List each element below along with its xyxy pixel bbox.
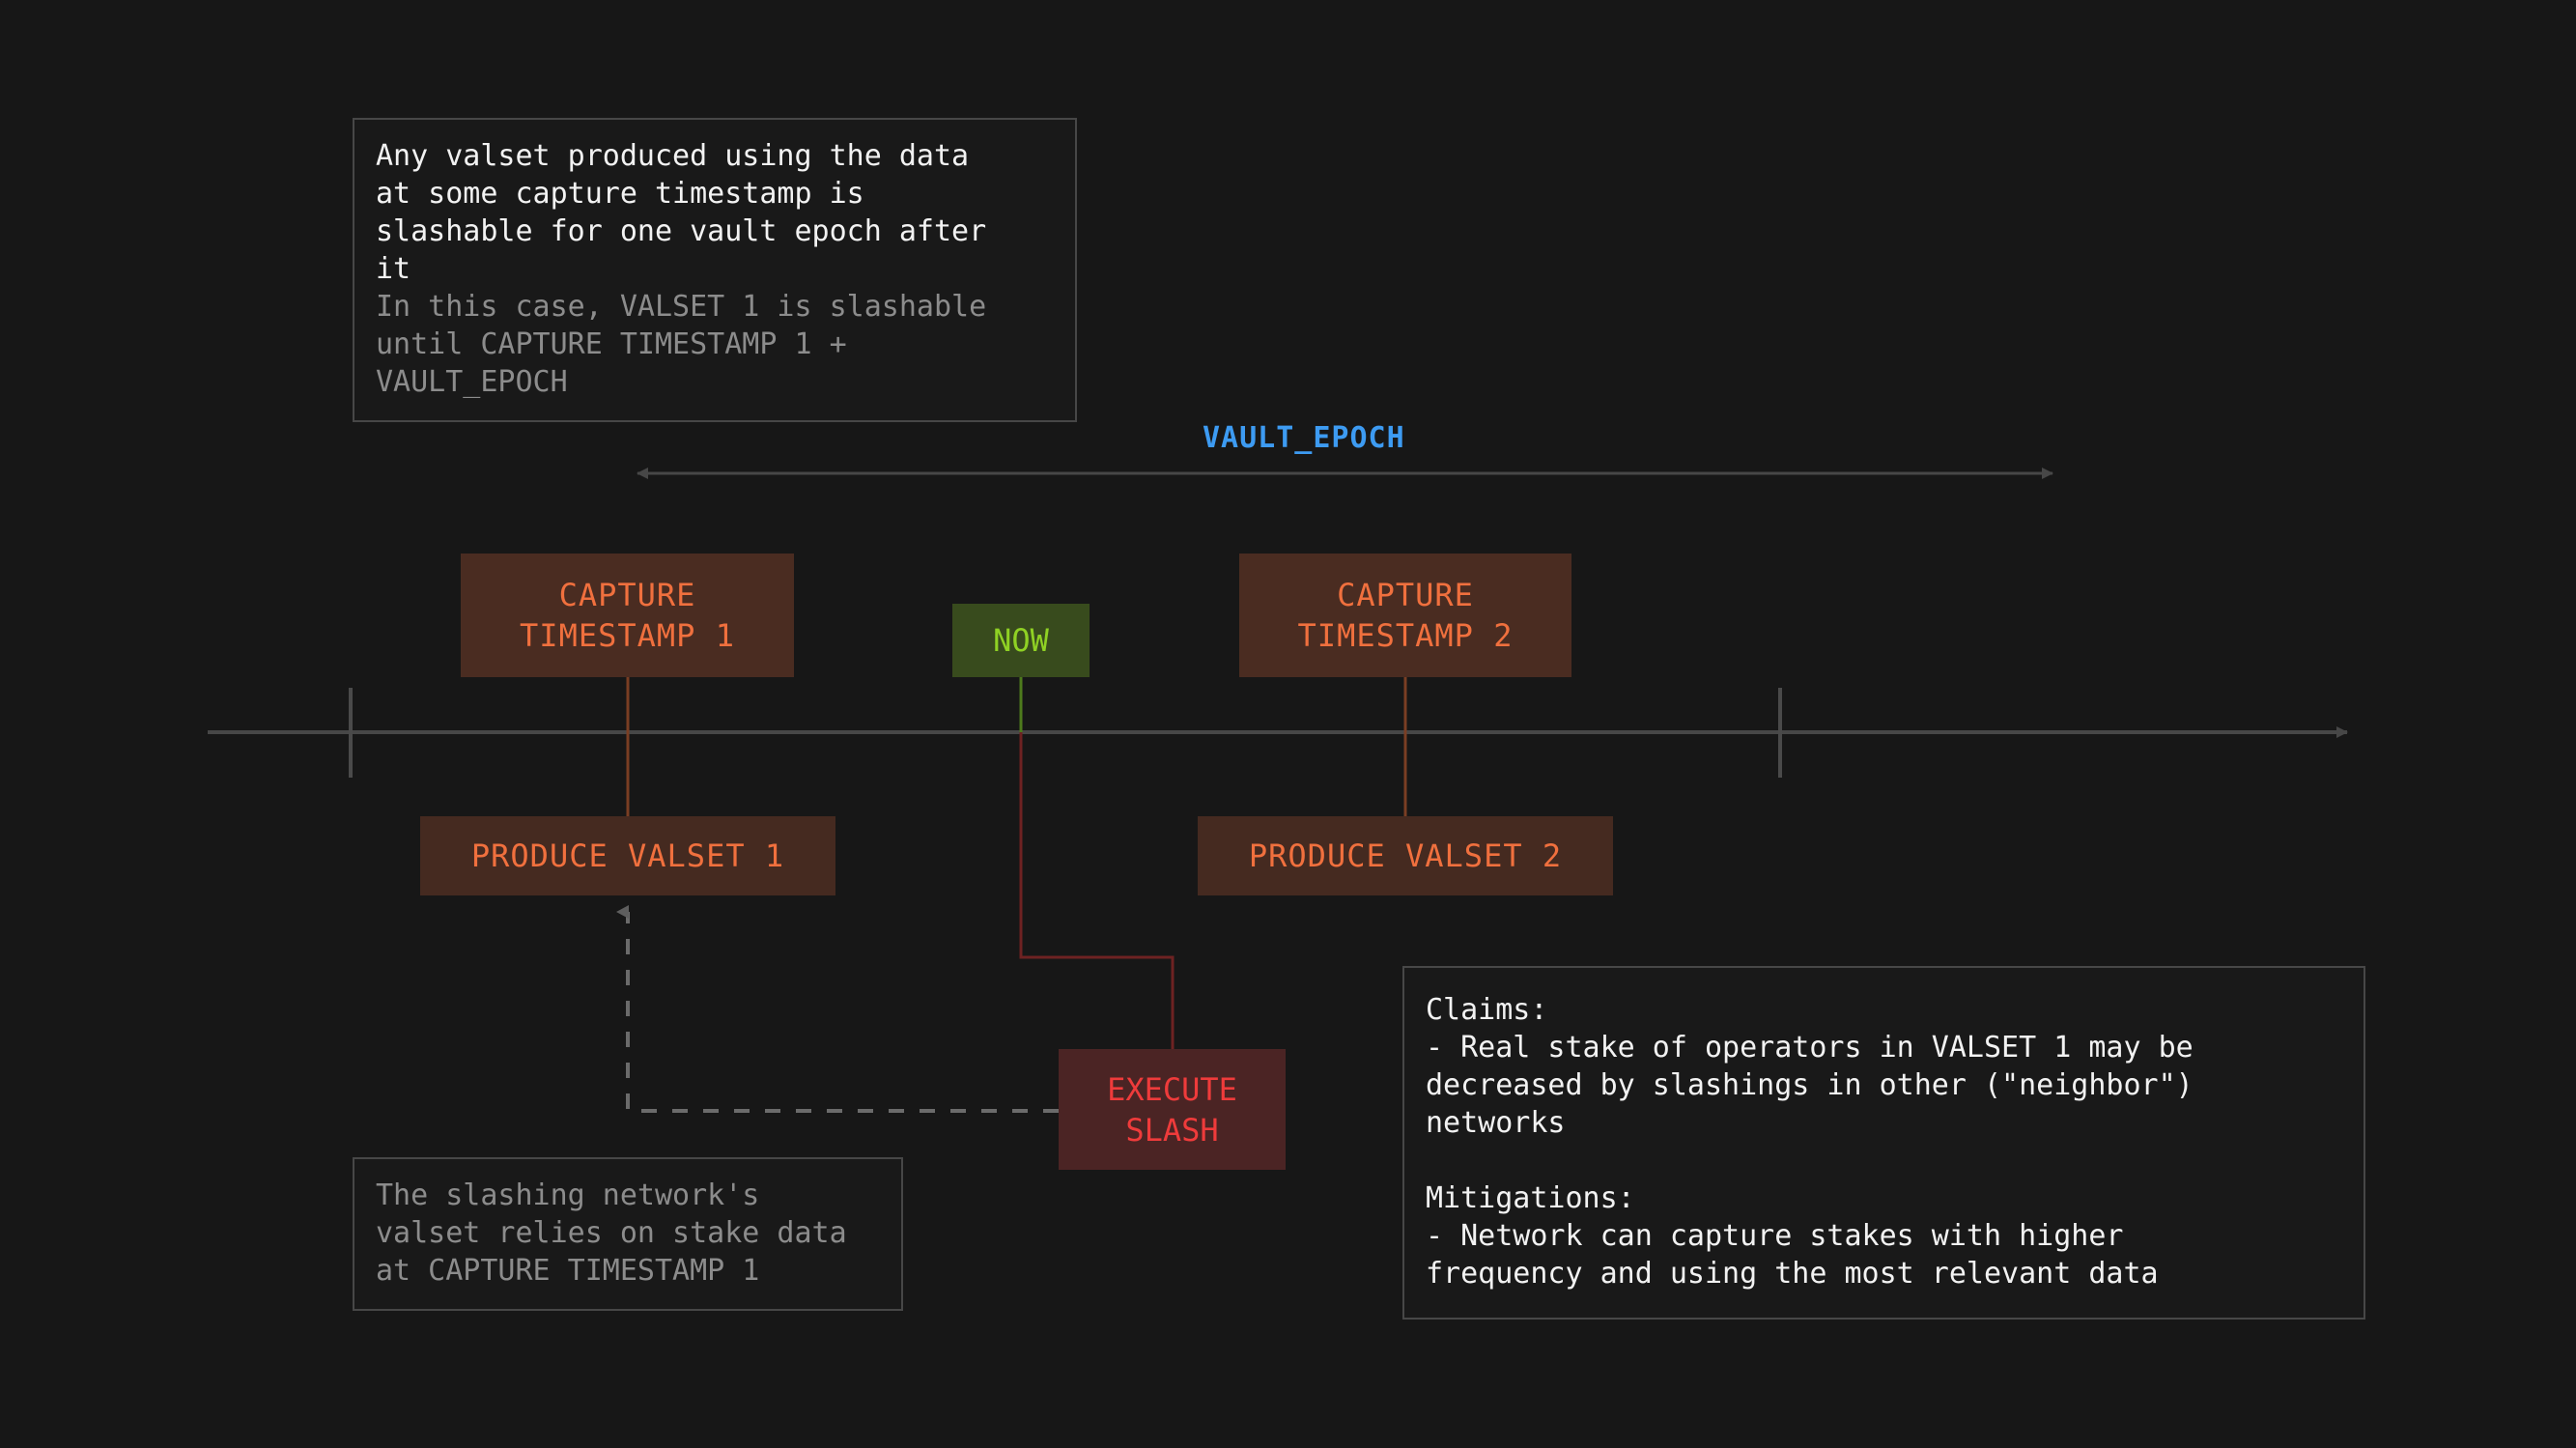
note-valset-reliance-line-2: valset relies on stake data: [376, 1214, 882, 1252]
note-valset-reliance: The slashing network's valset relies on …: [353, 1157, 903, 1311]
event-capture-timestamp-2-line-1: CAPTURE: [1337, 575, 1474, 615]
execute-slash-connector: [1021, 732, 1173, 1049]
timeline-axis: [208, 688, 2347, 778]
note-mitigations-heading: Mitigations:: [1426, 1179, 2344, 1217]
note-claims-line-1: - Real stake of operators in VALSET 1 ma…: [1426, 1029, 2344, 1066]
vault-epoch-label: VAULT_EPOCH: [1203, 421, 1405, 455]
note-slashability-muted-2: until CAPTURE TIMESTAMP 1 +: [376, 326, 1056, 363]
event-produce-valset-1-label: PRODUCE VALSET 1: [471, 836, 784, 876]
note-slashability-line-3: slashable for one vault epoch after: [376, 213, 1056, 250]
note-slashability-line-4: it: [376, 250, 1056, 288]
note-mitigations-line-2: frequency and using the most relevant da…: [1426, 1255, 2344, 1292]
event-execute-slash-line-2: SLASH: [1125, 1110, 1218, 1150]
event-execute-slash[interactable]: EXECUTE SLASH: [1059, 1049, 1286, 1170]
note-claims-spacer: [1426, 1142, 2344, 1179]
event-capture-timestamp-2-line-2: TIMESTAMP 2: [1298, 615, 1514, 656]
slash-to-valset1-dashed-connector: [628, 912, 1059, 1111]
note-claims-heading: Claims:: [1426, 991, 2344, 1029]
event-produce-valset-1[interactable]: PRODUCE VALSET 1: [420, 816, 835, 895]
note-valset-reliance-line-3: at CAPTURE TIMESTAMP 1: [376, 1252, 882, 1290]
diagram-canvas: Any valset produced using the data at so…: [0, 0, 2576, 1448]
note-slashability: Any valset produced using the data at so…: [353, 118, 1077, 422]
note-slashability-muted-1: In this case, VALSET 1 is slashable: [376, 288, 1056, 326]
note-claims-line-2: decreased by slashings in other ("neighb…: [1426, 1066, 2344, 1104]
note-slashability-line-1: Any valset produced using the data: [376, 137, 1056, 175]
event-now[interactable]: NOW: [952, 604, 1090, 677]
note-claims-line-3: networks: [1426, 1104, 2344, 1142]
event-produce-valset-2[interactable]: PRODUCE VALSET 2: [1198, 816, 1613, 895]
note-slashability-muted-3: VAULT_EPOCH: [376, 363, 1056, 401]
event-produce-valset-2-label: PRODUCE VALSET 2: [1249, 836, 1562, 876]
event-capture-timestamp-1-line-2: TIMESTAMP 1: [520, 615, 735, 656]
event-now-label: NOW: [993, 620, 1049, 661]
event-execute-slash-line-1: EXECUTE: [1107, 1069, 1237, 1110]
note-claims-mitigations: Claims: - Real stake of operators in VAL…: [1402, 966, 2365, 1320]
event-capture-timestamp-1[interactable]: CAPTURE TIMESTAMP 1: [461, 554, 794, 677]
event-capture-timestamp-2[interactable]: CAPTURE TIMESTAMP 2: [1239, 554, 1571, 677]
event-capture-timestamp-1-line-1: CAPTURE: [559, 575, 696, 615]
note-slashability-line-2: at some capture timestamp is: [376, 175, 1056, 213]
note-mitigations-line-1: - Network can capture stakes with higher: [1426, 1217, 2344, 1255]
note-valset-reliance-line-1: The slashing network's: [376, 1177, 882, 1214]
